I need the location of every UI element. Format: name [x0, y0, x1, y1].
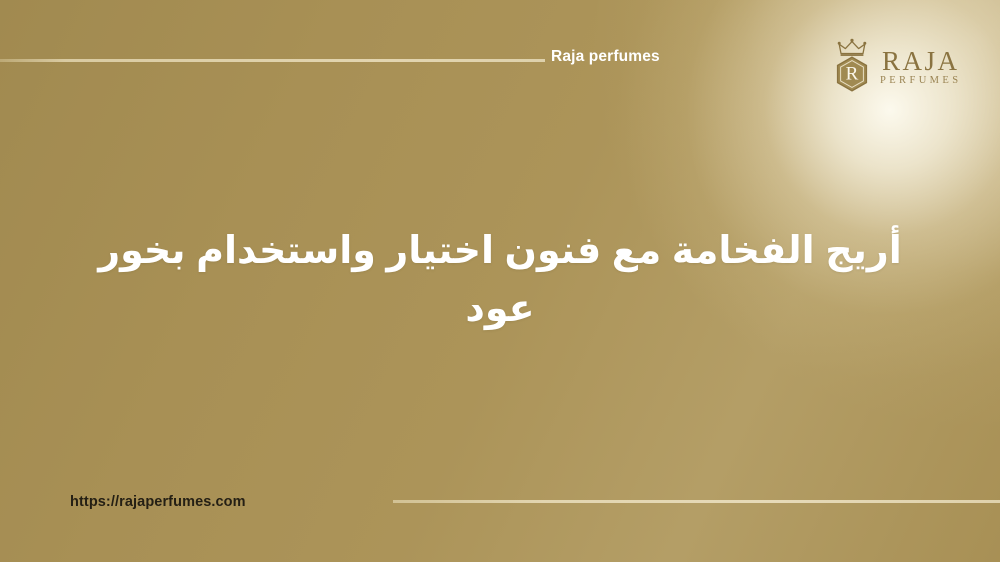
logo-subtitle-text: PERFUMES: [880, 75, 961, 87]
brand-kicker-label: Raja perfumes: [551, 47, 660, 67]
promo-banner: Raja perfumes R RAJA PERFUMES أريج الفخا…: [0, 0, 1000, 562]
page-title: أريج الفخامة مع فنون اختيار واستخدام بخو…: [60, 222, 940, 338]
raja-perfumes-logo[interactable]: R RAJA PERFUMES: [828, 36, 978, 94]
logo-wordmark: RAJA PERFUMES: [880, 44, 961, 87]
top-divider-rule: [0, 59, 545, 62]
site-url-link[interactable]: https://rajaperfumes.com: [70, 492, 246, 512]
bottom-divider-rule: [393, 500, 1000, 503]
svg-text:R: R: [846, 64, 859, 85]
crown-hexagon-monogram-icon: R: [828, 37, 876, 93]
logo-name-text: RAJA: [882, 48, 960, 74]
